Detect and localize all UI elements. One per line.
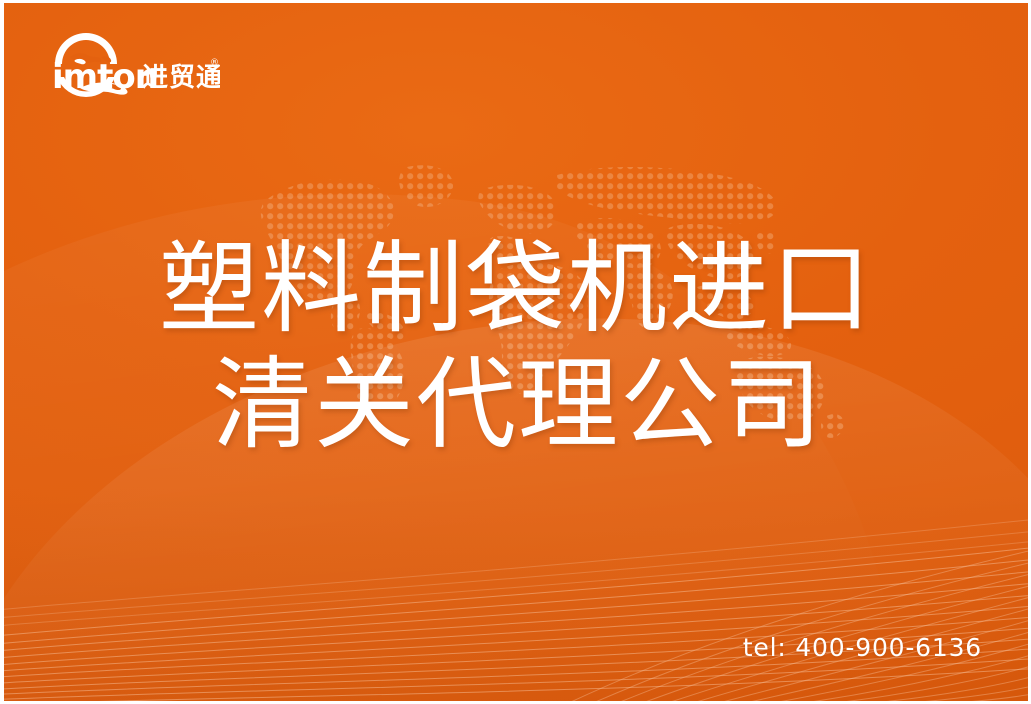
- brand-logo[interactable]: imton 进贸通 ®: [40, 31, 220, 105]
- logo-chinese-text: 进贸通: [142, 63, 220, 93]
- banner-canvas: imton 进贸通 ® 塑料制袋机进口 清关代理公司 tel: 400-900-…: [4, 3, 1028, 701]
- headline-line-1: 塑料制袋机进口: [4, 231, 1028, 347]
- page-title: 塑料制袋机进口 清关代理公司: [4, 231, 1028, 463]
- promo-banner: imton 进贸通 ® 塑料制袋机进口 清关代理公司 tel: 400-900-…: [0, 0, 1031, 704]
- contact-phone[interactable]: tel: 400-900-6136: [743, 633, 982, 662]
- trademark-symbol: ®: [210, 58, 219, 68]
- headline-line-2: 清关代理公司: [4, 347, 1028, 463]
